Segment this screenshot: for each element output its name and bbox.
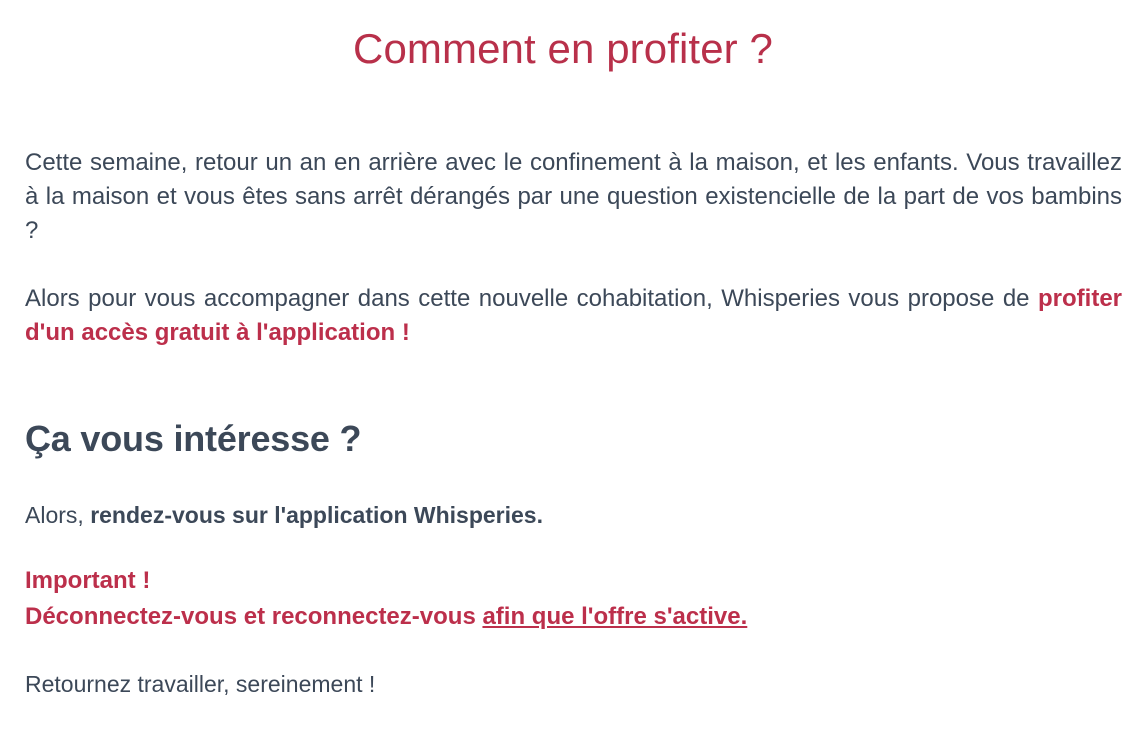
page-title: Comment en profiter ? (0, 0, 1126, 73)
offer-paragraph: Alors pour vous accompagner dans cette n… (25, 282, 1122, 350)
cta-lead-text: Alors, (25, 502, 90, 528)
section-heading: Ça vous intéresse ? (25, 418, 1122, 460)
important-label: Important ! (25, 563, 1122, 599)
important-block: Important ! Déconnectez-vous et reconnec… (25, 563, 1122, 635)
offer-paragraph-lead: Alors pour vous accompagner dans cette n… (25, 285, 1038, 312)
intro-paragraph: Cette semaine, retour un an en arrière a… (25, 146, 1122, 248)
closing-line: Retournez travailler, sereinement ! (25, 667, 1122, 701)
important-instruction-underlined: afin que l'offre s'active. (482, 603, 747, 630)
content-area: Cette semaine, retour un an en arrière a… (0, 146, 1126, 701)
cta-line: Alors, rendez-vous sur l'application Whi… (25, 498, 1122, 532)
email-body: Comment en profiter ? Cette semaine, ret… (0, 0, 1126, 748)
important-instruction: Déconnectez-vous et reconnectez-vous afi… (25, 599, 1122, 635)
cta-bold-text: rendez-vous sur l'application Whisperies… (90, 502, 543, 528)
important-instruction-lead: Déconnectez-vous et reconnectez-vous (25, 603, 482, 630)
